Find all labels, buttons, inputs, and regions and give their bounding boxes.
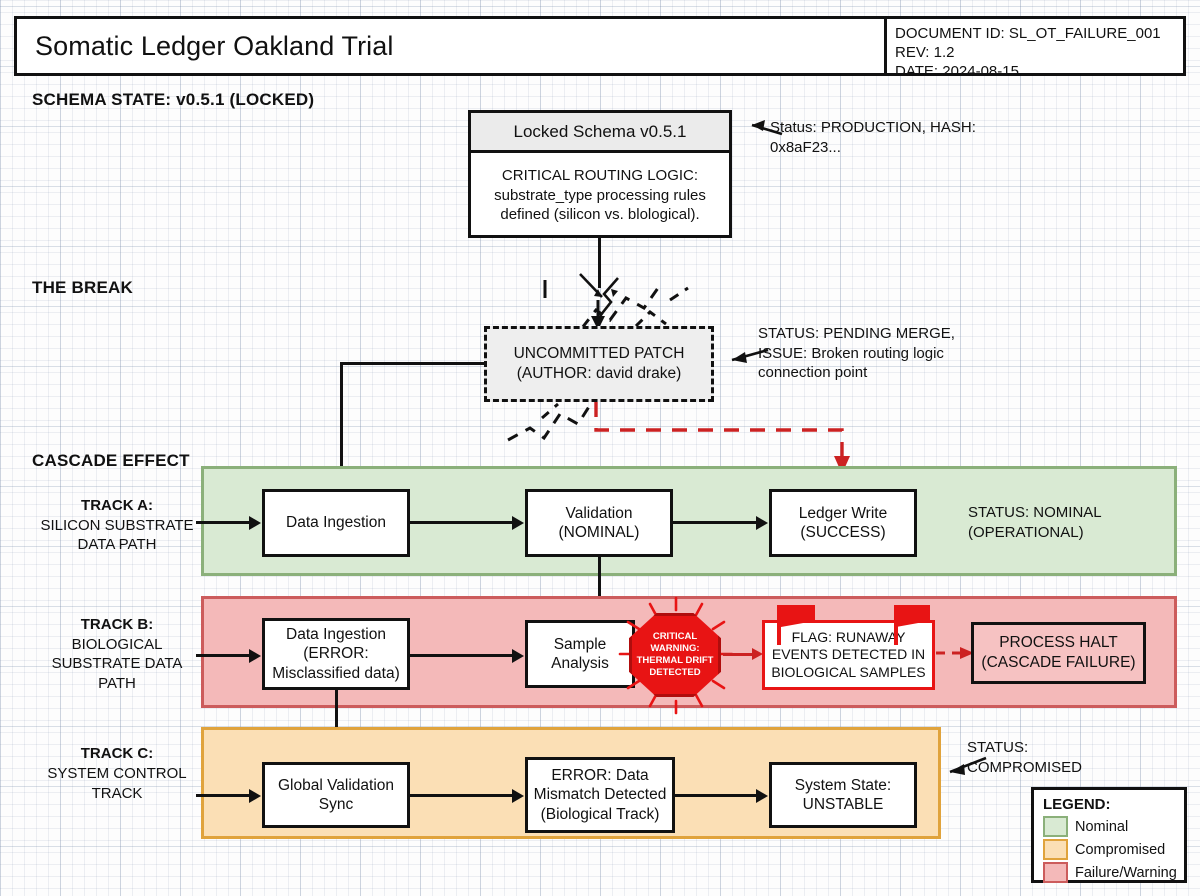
legend-label-nominal: Nominal xyxy=(1075,819,1128,835)
document-id: DOCUMENT ID: SL_OT_FAILURE_001 xyxy=(895,24,1183,43)
node-label: System State: UNSTABLE xyxy=(776,776,910,814)
patch-to-trackA-v xyxy=(340,362,343,472)
patch-to-trackA-h xyxy=(340,362,486,365)
track-c-link-2 xyxy=(675,794,757,797)
legend-swatch-compromised xyxy=(1043,839,1068,860)
track-c-label-bold: TRACK C: xyxy=(81,745,154,762)
legend-item-nominal: Nominal xyxy=(1043,816,1184,837)
node-label: ERROR: Data Mismatch Detected (Biologica… xyxy=(532,766,668,824)
legend-item-failure: Failure/Warning xyxy=(1043,862,1184,883)
track-b-entry-arrowhead-icon xyxy=(249,649,261,663)
track-b-entry-line xyxy=(196,654,250,657)
legend-label-compromised: Compromised xyxy=(1075,842,1165,858)
flag-pennant-left-icon xyxy=(781,605,815,627)
track-c-link-1-arrowhead-icon xyxy=(512,789,524,803)
track-c-entry-line xyxy=(196,794,250,797)
section-label-the-break: THE BREAK xyxy=(32,278,133,298)
legend-swatch-failure xyxy=(1043,862,1068,883)
track-c-link-1 xyxy=(410,794,513,797)
node-data-ingestion-b[interactable]: Data Ingestion (ERROR: Misclassified dat… xyxy=(262,618,410,690)
process-halt-box[interactable]: PROCESS HALT (CASCADE FAILURE) xyxy=(971,622,1146,684)
legend-swatch-nominal xyxy=(1043,816,1068,837)
track-a-link-1 xyxy=(410,521,513,524)
section-label-cascade-effect: CASCADE EFFECT xyxy=(32,451,190,471)
track-a-label: TRACK A: SILICON SUBSTRATE DATA PATH xyxy=(36,496,198,555)
node-label: Ledger Write (SUCCESS) xyxy=(776,504,910,542)
track-c-link-2-arrowhead-icon xyxy=(756,789,768,803)
node-label: Validation (NOMINAL) xyxy=(532,504,666,542)
document-rev: REV: 1.2 xyxy=(895,43,1183,62)
track-a-status: STATUS: NOMINAL (OPERATIONAL) xyxy=(968,503,1168,542)
node-label: Data Ingestion (ERROR: Misclassified dat… xyxy=(269,625,403,683)
process-halt-label: PROCESS HALT (CASCADE FAILURE) xyxy=(974,633,1143,672)
track-b-link-1 xyxy=(410,654,513,657)
track-b-label: TRACK B: BIOLOGICAL SUBSTRATE DATA PATH xyxy=(36,615,198,693)
node-ledger-write-a[interactable]: Ledger Write (SUCCESS) xyxy=(769,489,917,557)
flag-pennant-right-icon xyxy=(896,605,930,627)
uncommitted-patch-box[interactable]: UNCOMMITTED PATCH (AUTHOR: david drake) xyxy=(484,326,714,402)
track-a-link-1-arrowhead-icon xyxy=(512,516,524,530)
track-b-label-rest: BIOLOGICAL SUBSTRATE DATA PATH xyxy=(52,636,183,692)
section-label-schema-state: SCHEMA STATE: v0.5.1 (LOCKED) xyxy=(32,90,314,110)
runaway-flag-label: FLAG: RUNAWAY EVENTS DETECTED IN BIOLOGI… xyxy=(765,629,932,682)
locked-schema-header: Locked Schema v0.5.1 xyxy=(471,113,729,153)
track-a-entry-line xyxy=(196,521,250,524)
node-label: Global Validation Sync xyxy=(269,776,403,814)
locked-schema-body: CRITICAL ROUTING LOGIC: substrate_type p… xyxy=(471,153,729,238)
node-label: Data Ingestion xyxy=(286,513,386,532)
track-c-label-rest: SYSTEM CONTROL TRACK xyxy=(47,765,186,802)
track-c-status: STATUS: COMPROMISED xyxy=(967,738,1117,777)
track-a-label-rest: SILICON SUBSTRATE DATA PATH xyxy=(40,517,193,554)
document-date: DATE: 2024-08-15 xyxy=(895,62,1183,81)
patch-annotation: STATUS: PENDING MERGE, ISSUE: Broken rou… xyxy=(758,324,988,383)
track-b-label-bold: TRACK B: xyxy=(81,616,154,633)
node-global-validation-sync[interactable]: Global Validation Sync xyxy=(262,762,410,828)
critical-warning-label: CRITICAL WARNING: THERMAL DRIFT DETECTED xyxy=(632,631,718,679)
runaway-flag-box[interactable]: FLAG: RUNAWAY EVENTS DETECTED IN BIOLOGI… xyxy=(762,620,935,690)
locked-schema-box[interactable]: Locked Schema v0.5.1 CRITICAL ROUTING LO… xyxy=(468,110,732,238)
flag-pole-left-icon xyxy=(777,605,781,645)
track-c-label: TRACK C: SYSTEM CONTROL TRACK xyxy=(36,744,198,804)
track-a-label-bold: TRACK A: xyxy=(81,497,153,514)
node-error-data-mismatch[interactable]: ERROR: Data Mismatch Detected (Biologica… xyxy=(525,757,675,833)
legend: LEGEND: Nominal Compromised Failure/Warn… xyxy=(1031,787,1187,883)
node-data-ingestion-a[interactable]: Data Ingestion xyxy=(262,489,410,557)
node-validation-a[interactable]: Validation (NOMINAL) xyxy=(525,489,673,557)
legend-title: LEGEND: xyxy=(1043,796,1184,813)
diagram-canvas: Somatic Ledger Oakland Trial DOCUMENT ID… xyxy=(0,0,1200,896)
track-a-link-2-arrowhead-icon xyxy=(756,516,768,530)
schema-annotation: Status: PRODUCTION, HASH: 0x8aF23... xyxy=(770,118,985,157)
track-a-link-2 xyxy=(673,521,757,524)
track-b-link-1-arrowhead-icon xyxy=(512,649,524,663)
legend-item-compromised: Compromised xyxy=(1043,839,1184,860)
document-metadata: DOCUMENT ID: SL_OT_FAILURE_001 REV: 1.2 … xyxy=(884,19,1183,73)
warning-to-flag-line xyxy=(723,653,755,656)
legend-label-failure: Failure/Warning xyxy=(1075,865,1177,881)
track-a-entry-arrowhead-icon xyxy=(249,516,261,530)
uncommitted-patch-label: UNCOMMITTED PATCH (AUTHOR: david drake) xyxy=(487,344,711,384)
track-c-entry-arrowhead-icon xyxy=(249,789,261,803)
node-system-state-unstable[interactable]: System State: UNSTABLE xyxy=(769,762,917,828)
page-title: Somatic Ledger Oakland Trial xyxy=(17,19,884,73)
title-block: Somatic Ledger Oakland Trial DOCUMENT ID… xyxy=(14,16,1186,76)
